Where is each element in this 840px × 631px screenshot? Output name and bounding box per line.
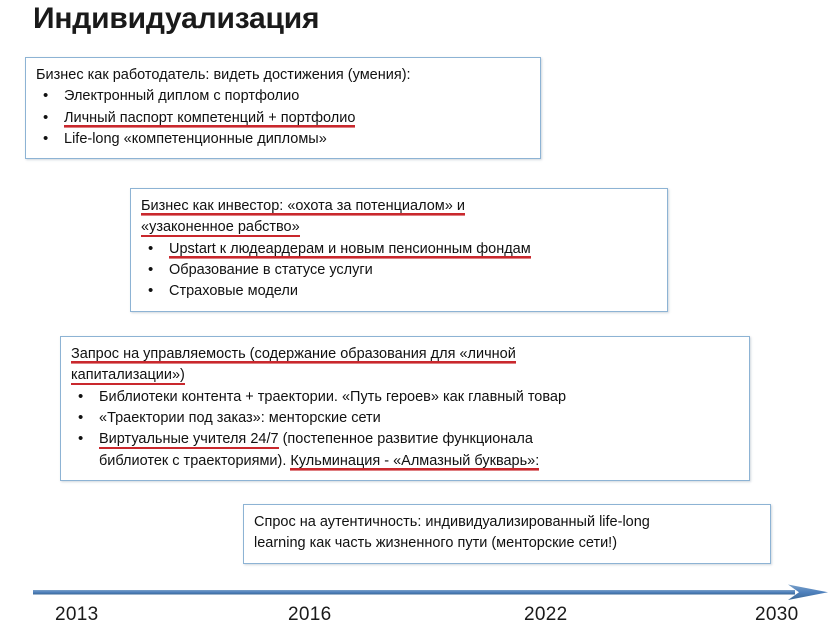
callout-box-employer: Бизнес как работодатель: видеть достижен… (25, 57, 541, 159)
lead-underlined-line1: Бизнес как инвестор: «охота за потенциал… (141, 198, 465, 216)
callout-investor-bullets: Upstart к людеардерам и новым пенсионным… (141, 239, 657, 303)
list-item: Upstart к людеардерам и новым пенсионным… (141, 239, 657, 260)
callout-investor-lead-line1: Бизнес как инвестор: «охота за потенциал… (141, 196, 657, 217)
bullet-text: Образование в статусе услуги (169, 262, 373, 278)
bullet-text: «Траектории под заказ»: менторские сети (99, 410, 381, 426)
bullet-text-underlined: Виртуальные учителя 24/7 (99, 431, 279, 449)
callout-employer-lead: Бизнес как работодатель: видеть достижен… (36, 65, 530, 86)
list-item: Страховые модели (141, 281, 657, 302)
list-item: Образование в статусе услуги (141, 260, 657, 281)
timeline-year-2016: 2016 (288, 604, 331, 626)
bullet-text: Life-long «компетенционные дипломы» (64, 131, 327, 147)
callout-authenticity-line1: Спрос на аутентичность: индивидуализиров… (254, 512, 760, 533)
page-title: Индивидуализация (33, 2, 319, 36)
callout-management-lead-line2: капитализации») (71, 365, 739, 386)
callout-employer-bullets: Электронный диплом с портфолио Личный па… (36, 86, 530, 150)
callout-management-lead-line1: Запрос на управляемость (содержание обра… (71, 344, 739, 365)
bullet-text: Страховые модели (169, 283, 298, 299)
callout-box-authenticity: Спрос на аутентичность: индивидуализиров… (243, 504, 771, 564)
list-item: Виртуальные учителя 24/7 (постепенное ра… (71, 429, 739, 450)
bullet-text: (постепенное развитие функционала (279, 431, 533, 447)
callout-management-bullets: Библиотеки контента + траектории. «Путь … (71, 387, 739, 472)
bullet-text-continuation-underlined: Кульминация - «Алмазный букварь»: (290, 453, 539, 471)
lead-underlined-line2: «узаконенное рабство» (141, 219, 300, 237)
list-item: Life-long «компетенционные дипломы» (36, 129, 530, 150)
timeline-year-2022: 2022 (524, 604, 567, 626)
callout-box-management: Запрос на управляемость (содержание обра… (60, 336, 750, 481)
list-item-continuation: библиотек с траекториями). Кульминация -… (71, 451, 739, 472)
list-item: Библиотеки контента + траектории. «Путь … (71, 387, 739, 408)
bullet-text-underlined: Upstart к людеардерам и новым пенсионным… (169, 241, 531, 259)
bullet-text: Библиотеки контента + траектории. «Путь … (99, 389, 566, 405)
timeline-arrow (33, 584, 828, 604)
slide-canvas: Индивидуализация Бизнес как работодатель… (0, 0, 840, 631)
bullet-text: Электронный диплом с портфолио (64, 88, 299, 104)
lead-underlined-line1: Запрос на управляемость (содержание обра… (71, 346, 516, 364)
list-item: Личный паспорт компетенций + портфолио (36, 108, 530, 129)
timeline-year-2030: 2030 (755, 604, 798, 626)
list-item: «Траектории под заказ»: менторские сети (71, 408, 739, 429)
callout-box-investor: Бизнес как инвестор: «охота за потенциал… (130, 188, 668, 312)
lead-underlined-line2: капитализации») (71, 367, 185, 385)
bullet-text-continuation: библиотек с траекториями). (99, 453, 290, 469)
list-item: Электронный диплом с портфолио (36, 86, 530, 107)
timeline-year-2013: 2013 (55, 604, 98, 626)
bullet-text-underlined: Личный паспорт компетенций + портфолио (64, 110, 355, 128)
callout-authenticity-line2: learning как часть жизненного пути (мент… (254, 533, 760, 554)
callout-investor-lead-line2: «узаконенное рабство» (141, 217, 657, 238)
